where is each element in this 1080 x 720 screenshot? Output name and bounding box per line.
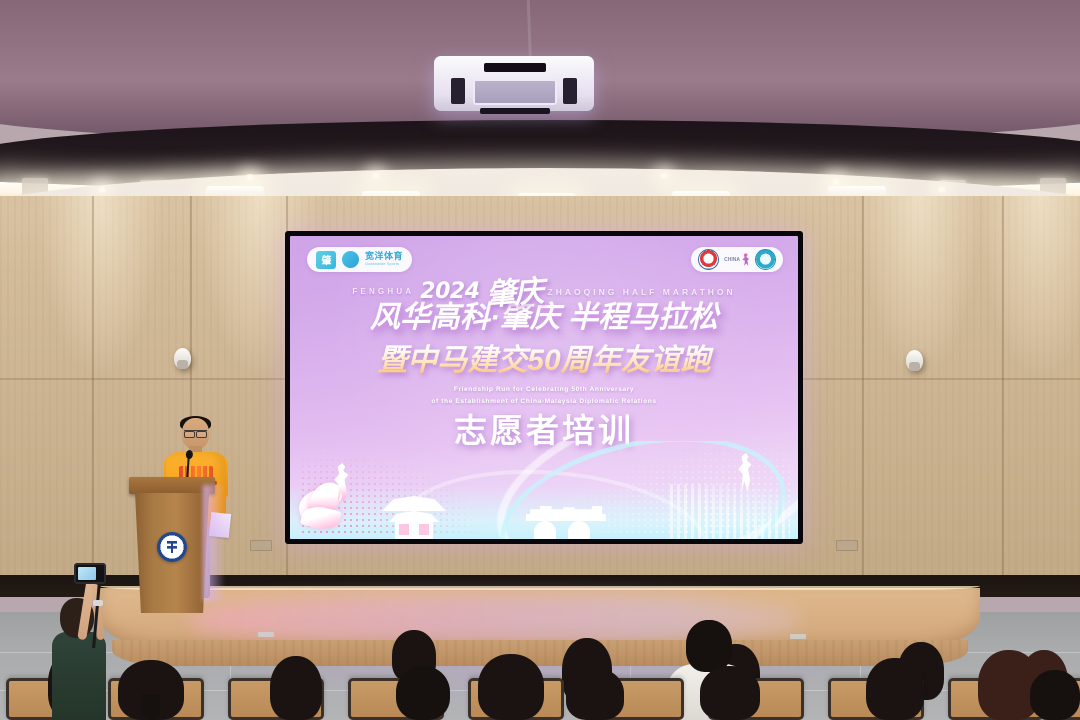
fenghua-pinyin: FENGHUA: [352, 287, 414, 296]
audience-member: [270, 656, 322, 720]
ceiling-downlight: [658, 172, 670, 179]
ac-unit-vent-left: [451, 78, 465, 104]
sponsor-logo-right: CHINA: [691, 247, 783, 272]
university-seal-emblem: [157, 532, 187, 562]
sponsor-logo-text: 宽洋体育 Oceanwide Sports: [365, 252, 403, 266]
audience-member: [566, 668, 624, 720]
audience-member: [866, 658, 924, 720]
ceiling-downlight: [244, 174, 256, 181]
led-display-screen[interactable]: 肇 宽洋体育 Oceanwide Sports CHINA FEN: [285, 231, 803, 544]
title-top-row: FENGHUA 2024 肇庆 ZHAOQING HALF MARATHON: [290, 283, 798, 300]
audience-member: [478, 654, 544, 720]
ceiling-downlight: [936, 186, 948, 193]
wall-light-wash: [860, 196, 980, 376]
china-runner-badge-icon: CHINA: [724, 253, 750, 266]
title-line-2: 暨中马建交50周年友谊跑: [290, 335, 798, 379]
sponsor-name-cn: 宽洋体育: [365, 252, 403, 261]
speaker-glasses: [184, 430, 207, 437]
wall-speaker-left: [174, 348, 191, 369]
audience-ponytail: [142, 694, 160, 720]
runner-figure-icon: [741, 253, 750, 266]
bridge-silhouette: [526, 501, 606, 539]
pavilion-silhouette: [382, 495, 446, 539]
wall-panel-seam: [92, 196, 94, 596]
bridge-deck: [526, 514, 606, 521]
oceanwide-wave-icon: [342, 251, 359, 268]
pavilion-roof-upper: [382, 496, 446, 511]
ac-unit-intake-slot: [484, 63, 546, 72]
ac-unit-vent-right: [563, 78, 577, 104]
zhaoqing-sports-badge-icon: [755, 249, 776, 270]
china-badge-label: CHINA: [724, 257, 740, 263]
slide-decorative-band: [290, 441, 798, 539]
pavilion-base: [395, 520, 433, 539]
audience-member: [396, 666, 450, 720]
camera-device-icon[interactable]: [74, 563, 106, 584]
stage-front-edge: [100, 586, 980, 590]
lectern-podium: [133, 477, 211, 612]
wall-panel-seam: [862, 196, 864, 596]
bridge-arch: [568, 521, 590, 539]
wall-light-wash: [980, 196, 1080, 376]
bridge-arch: [534, 521, 556, 539]
lily-flower-icon: [296, 473, 366, 537]
ceiling-downlight: [96, 186, 108, 193]
ceiling-air-conditioner-unit: [434, 56, 594, 111]
wall-outlet: [836, 540, 858, 551]
ceiling-downlight: [370, 172, 382, 179]
slide-content: 肇 宽洋体育 Oceanwide Sports CHINA FEN: [290, 236, 798, 539]
wall-light-wash: [40, 196, 160, 376]
ceiling-downlight: [830, 178, 842, 185]
bridge-railing: [530, 506, 602, 514]
zhaoqing-mark-icon: 肇: [316, 251, 336, 269]
audience-member: [700, 666, 760, 720]
sponsor-name-en: Oceanwide Sports: [365, 263, 403, 267]
chinese-athletics-association-badge-icon: [698, 249, 719, 270]
audience-member-hair: [686, 620, 732, 672]
sponsor-logo-left: 肇 宽洋体育 Oceanwide Sports: [307, 247, 412, 272]
ac-unit-shadow: [480, 108, 550, 114]
zhaoqing-calligraphy: 肇庆: [484, 266, 543, 314]
wall-panel-seam: [1002, 196, 1004, 596]
zhaoqing-half-marathon-pinyin: ZHAOQING HALF MARATHON: [548, 287, 736, 297]
ac-unit-grille: [473, 79, 557, 105]
marathon-title-block: FENGHUA 2024 肇庆 ZHAOQING HALF MARATHON 风…: [290, 283, 798, 407]
wall-speaker-right: [906, 350, 923, 371]
auditorium-scene: 肇 宽洋体育 Oceanwide Sports CHINA FEN: [0, 0, 1080, 720]
audience-seating: [0, 608, 1080, 720]
audience-member: [1030, 670, 1080, 720]
audience-photographer: [52, 560, 142, 720]
photographer-torso: [52, 632, 106, 720]
city-skyline-silhouette: [670, 484, 790, 539]
event-year: 2024: [420, 279, 479, 304]
subtitle-english-line-1: Friendship Run for Celebrating 50th Anni…: [290, 384, 798, 396]
photographer-wristwatch: [93, 600, 103, 606]
wall-outlet: [250, 540, 272, 551]
podium-light-highlight: [203, 485, 225, 601]
